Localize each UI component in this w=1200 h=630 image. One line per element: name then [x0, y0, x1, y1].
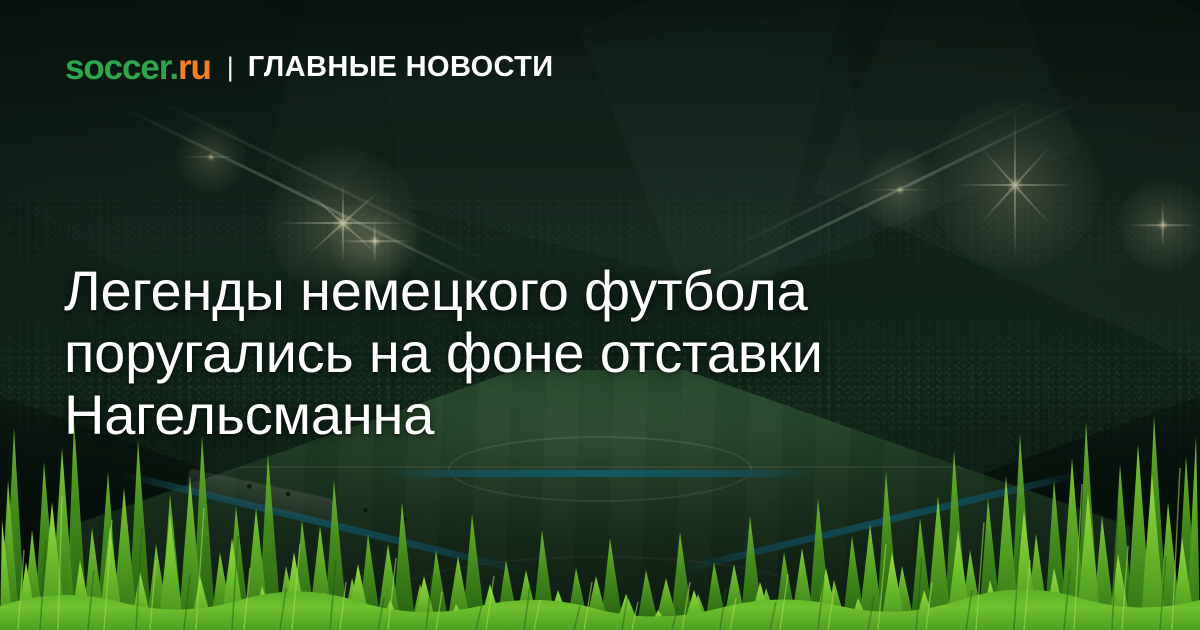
article-headline: Легенды немецкого футбола поругались на …	[64, 260, 944, 446]
logo-text-dot: .	[169, 48, 178, 87]
site-header: soccer.ru | ГЛАВНЫЕ НОВОСТИ	[65, 50, 554, 85]
social-share-card: soccer.ru | ГЛАВНЫЕ НОВОСТИ Легенды неме…	[0, 0, 1200, 630]
logo-text-ru: ru	[178, 48, 211, 87]
soccer-ru-logo[interactable]: soccer.ru	[65, 50, 211, 85]
logo-text-soccer: soccer	[65, 48, 169, 87]
header-separator: |	[227, 54, 234, 81]
header-kicker-label: ГЛАВНЫЕ НОВОСТИ	[248, 53, 554, 82]
